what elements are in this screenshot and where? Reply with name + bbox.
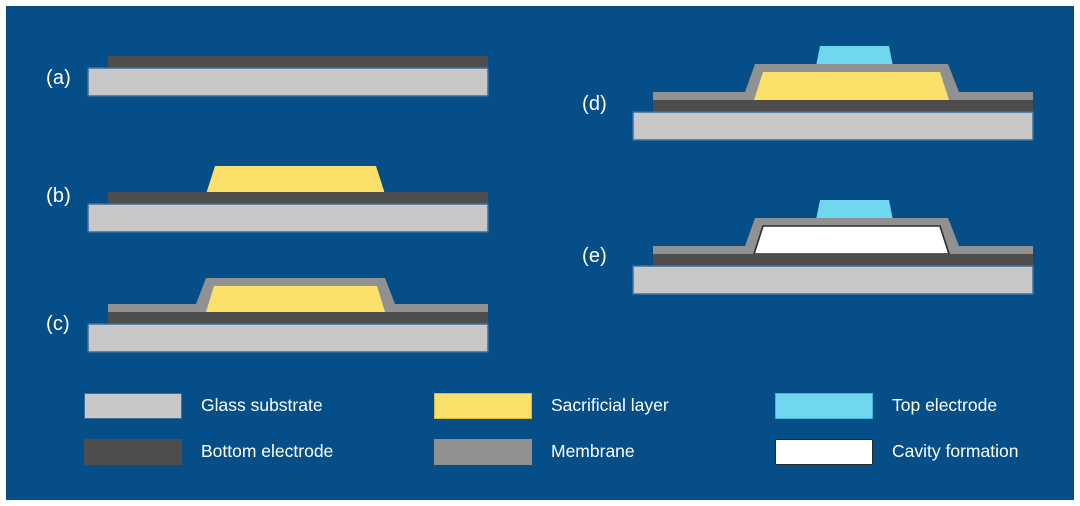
legend-item-bottom-electrode: Bottom electrode [84, 439, 333, 465]
legend-item-glass-substrate: Glass substrate [84, 393, 323, 419]
legend-item-cavity-formation: Cavity formation [775, 439, 1018, 465]
legend-swatch-membrane [434, 439, 532, 465]
legend-swatch-cavity-formation [775, 439, 873, 465]
legend-swatch-sacrificial-layer [434, 393, 532, 419]
legend-swatch-top-electrode [775, 393, 873, 419]
legend-swatch-glass-substrate [84, 393, 182, 419]
legend-label-membrane: Membrane [551, 443, 635, 461]
legend-label-glass-substrate: Glass substrate [201, 397, 323, 415]
legend-swatch-bottom-electrode [84, 439, 182, 465]
legend-label-top-electrode: Top electrode [892, 397, 997, 415]
legend-label-bottom-electrode: Bottom electrode [201, 443, 333, 461]
legend-item-membrane: Membrane [434, 439, 635, 465]
legend-label-cavity-formation: Cavity formation [892, 443, 1018, 461]
legend: Glass substrate Bottom electrode Sacrifi… [6, 6, 1074, 500]
legend-label-sacrificial-layer: Sacrificial layer [551, 397, 669, 415]
legend-item-top-electrode: Top electrode [775, 393, 997, 419]
legend-item-sacrificial-layer: Sacrificial layer [434, 393, 669, 419]
fabrication-process-figure: (a) (b) (c) [0, 0, 1080, 506]
figure-canvas: (a) (b) (c) [6, 6, 1074, 500]
